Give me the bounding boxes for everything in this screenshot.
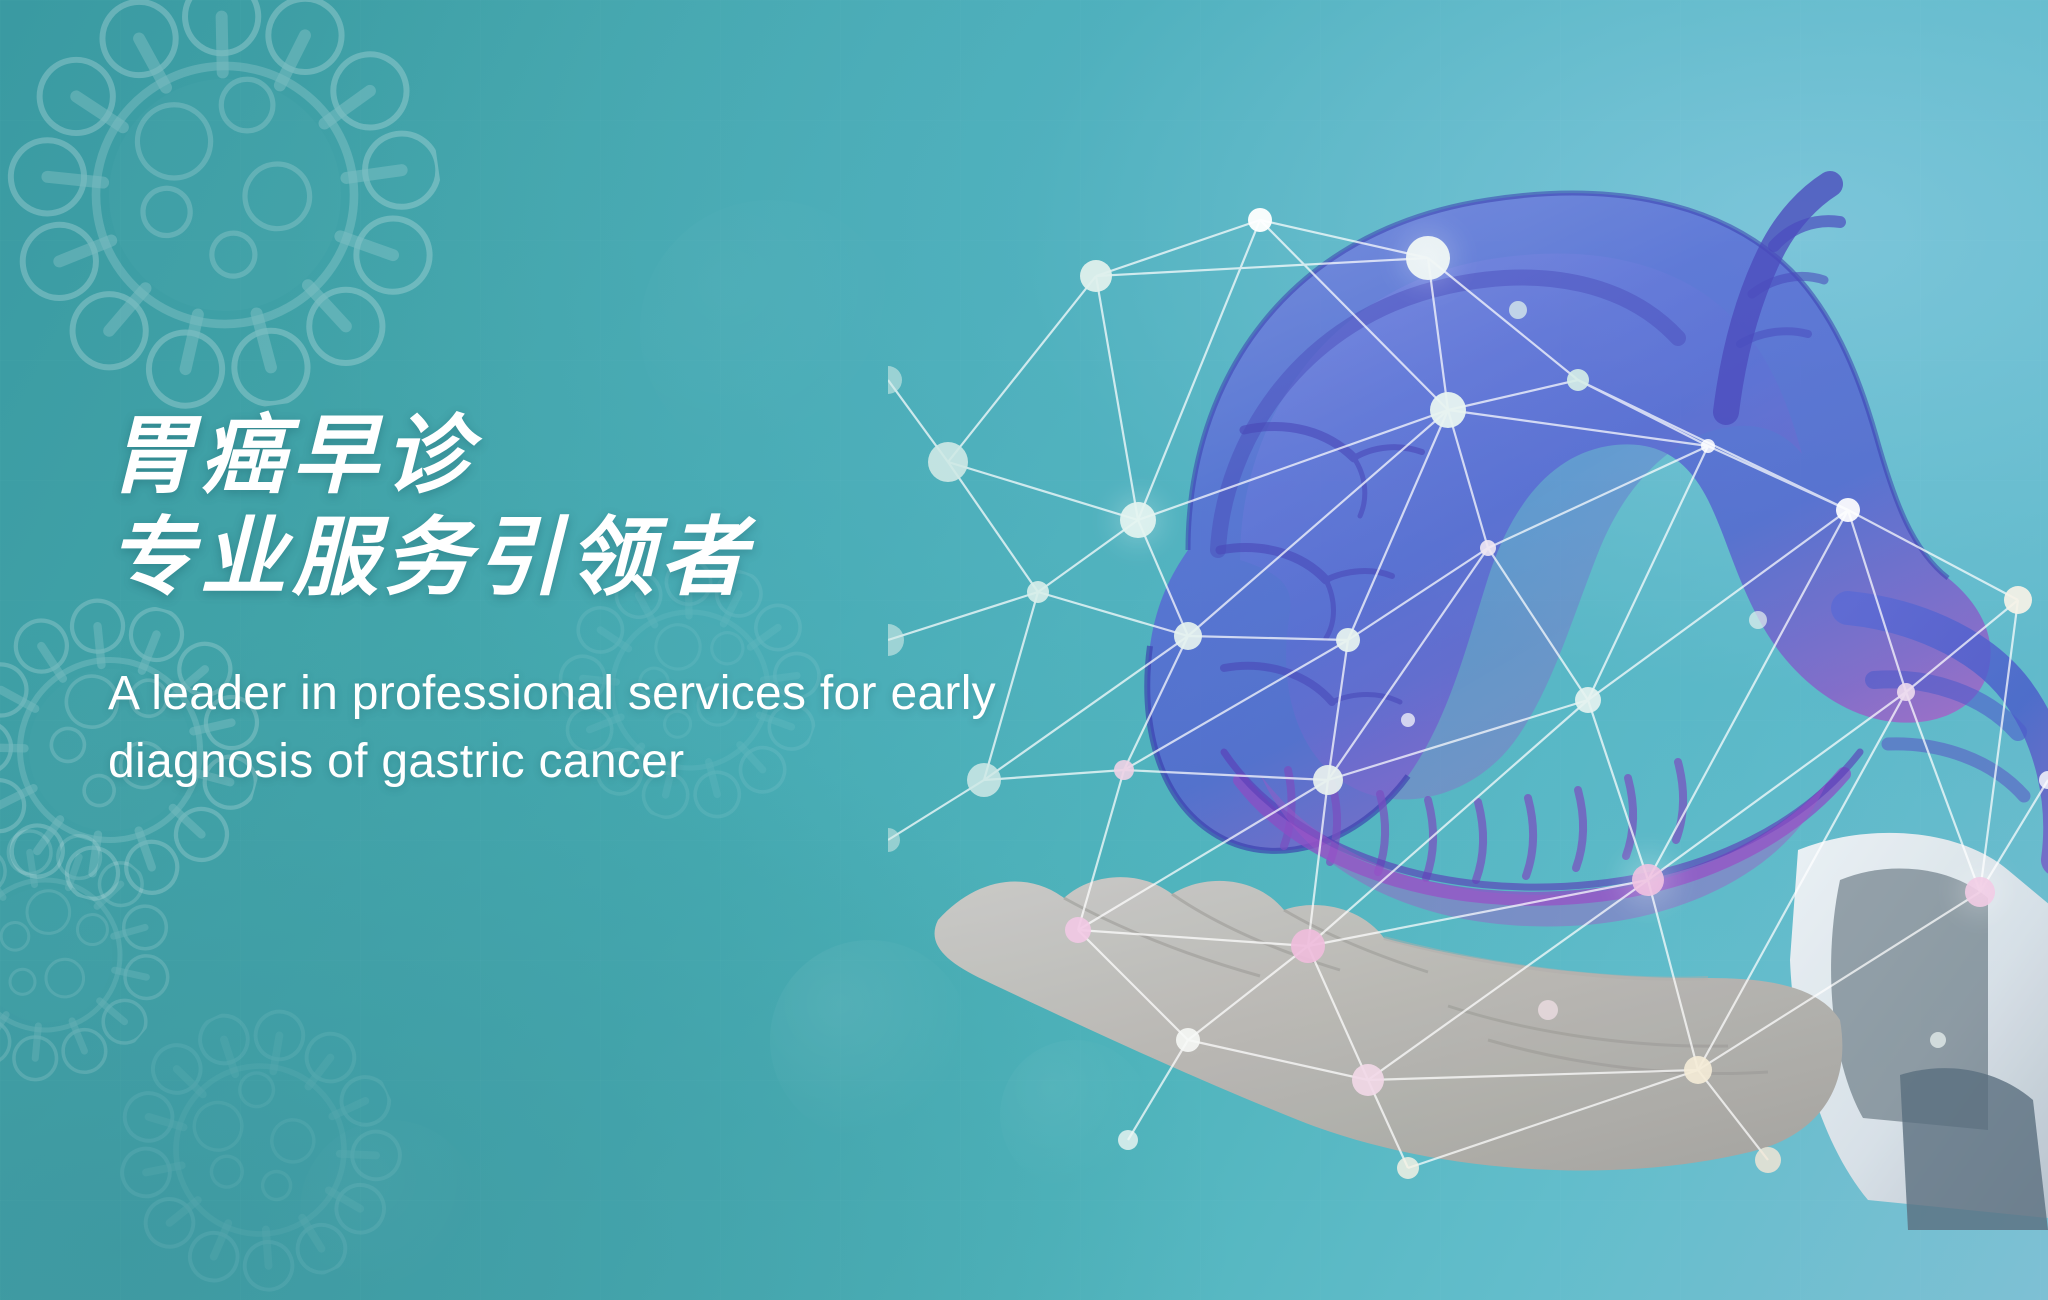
subtitle-line-1: A leader in professional services for ea… — [108, 660, 1128, 728]
virus-left-bottom-icon — [0, 779, 221, 1131]
virus-bottom-mid-icon — [74, 964, 446, 1300]
headline-line-2: 专业服务引领者 — [108, 510, 1128, 606]
banner-root: 胃癌早诊 专业服务引领者 A leader in professional se… — [0, 0, 2048, 1300]
virus-top-left-icon — [0, 0, 468, 438]
subtitle-block: A leader in professional services for ea… — [108, 660, 1128, 796]
subtitle-line-2: diagnosis of gastric cancer — [108, 728, 1128, 796]
cell-blob-lowleft — [300, 1120, 480, 1300]
headline-line-1: 胃癌早诊 — [108, 408, 1128, 504]
headline-block: 胃癌早诊 专业服务引领者 A leader in professional se… — [108, 408, 1128, 796]
